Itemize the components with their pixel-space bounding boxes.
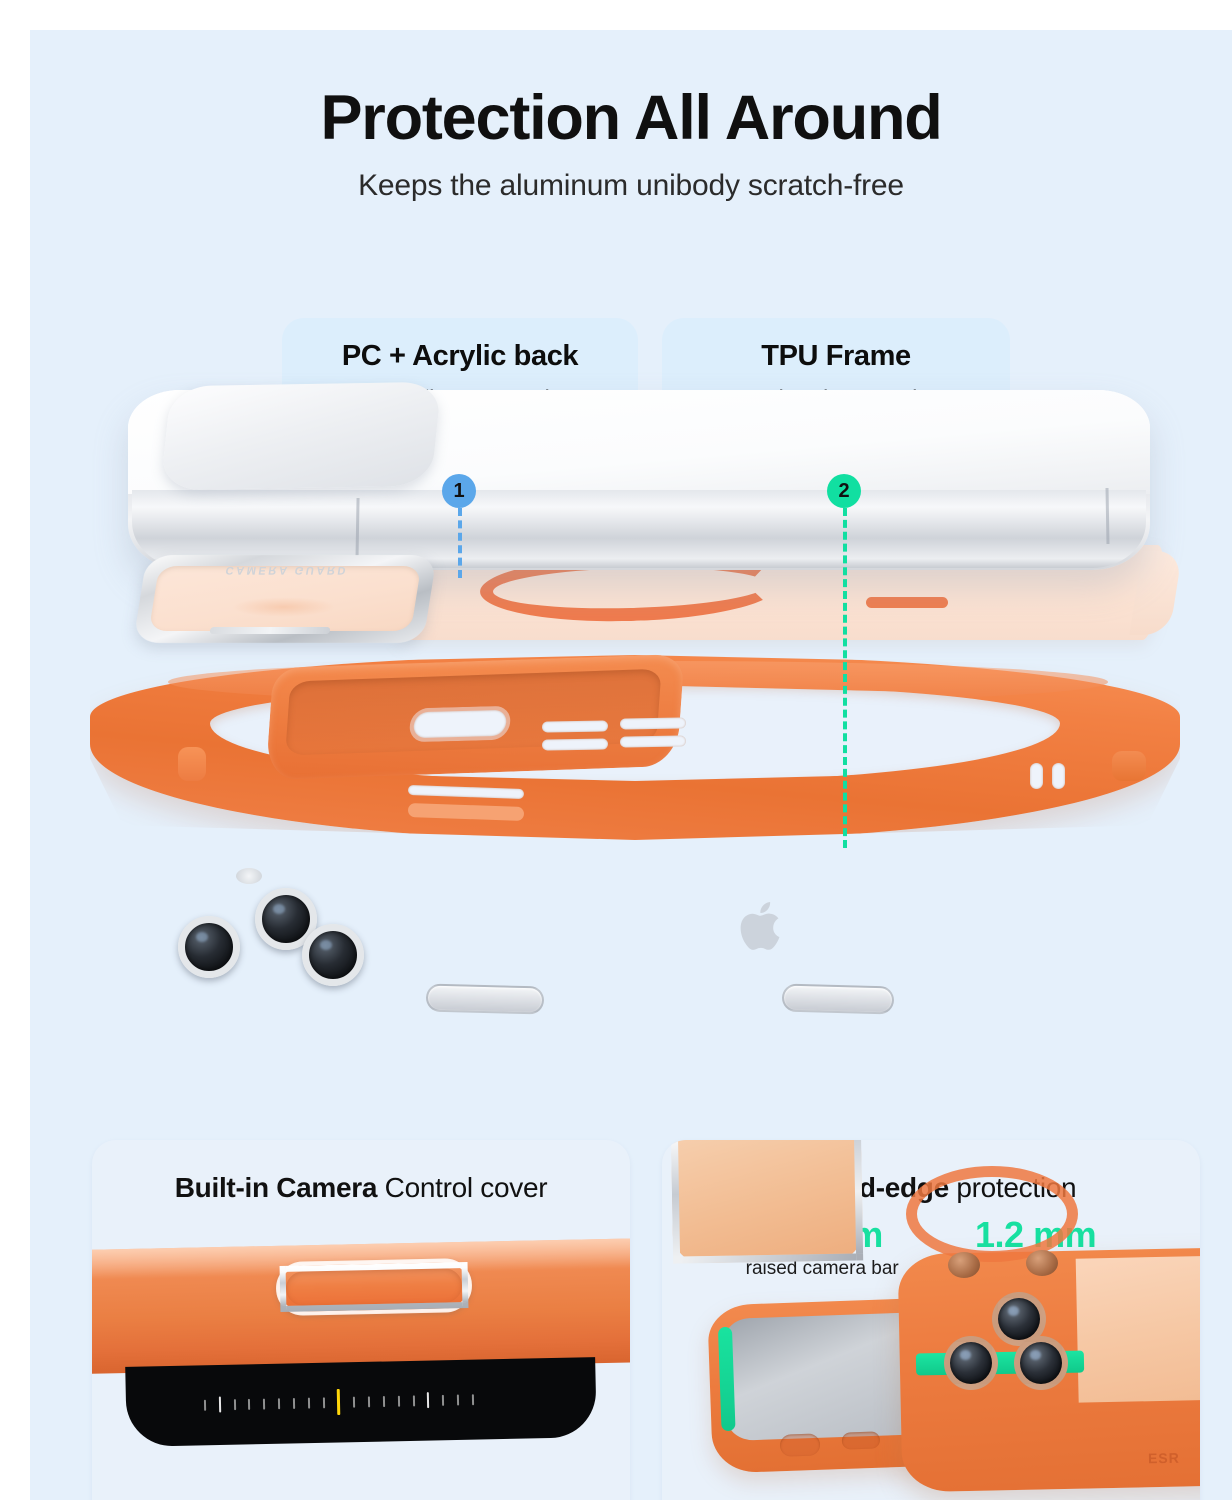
volume-down-cutout [542,738,608,750]
apple-logo-icon [733,898,787,954]
leader-line-2 [843,508,847,848]
scale-tick [278,1398,280,1409]
magsafe-ring-indicator [906,1166,1078,1262]
camera-control-button-cover [280,1262,469,1312]
page-title: Protection All Around [30,85,1232,151]
callout-badge-1: 1 [442,474,476,508]
callout-title: TPU Frame [680,340,992,373]
camera-lens-left [944,1336,998,1390]
iphone-side-button-b [782,984,895,1015]
panel-title-bold: Built-in Camera [175,1172,377,1203]
scale-tick [308,1397,310,1408]
camera-lens-right [1014,1336,1068,1390]
scale-tick [204,1399,206,1410]
tpu-frame [90,655,1180,840]
camera-guard-notch [209,627,330,634]
camera-control-cutout [408,706,512,743]
camera-aux-sensor-a [948,1252,980,1278]
camera-module-with-guard [671,1140,863,1264]
callout-title: PC + Acrylic back [300,340,620,373]
side-button-cutout [620,735,686,747]
scale-tick [323,1397,325,1408]
camera-aux-sensor-b [1026,1250,1058,1276]
header: Protection All Around Keeps the aluminum… [30,85,1232,203]
panel-camera-control-cover: Built-in Camera Control cover [92,1140,630,1500]
panel-title: Built-in Camera Control cover [92,1172,630,1204]
scale-tick [412,1395,414,1406]
scale-tick [442,1394,444,1405]
panel-title-light: Control cover [377,1172,547,1203]
camera-lens-telephoto [302,924,364,986]
speaker-port-cutout-b [1052,763,1065,789]
tpu-left-corner-nub [178,747,206,781]
infographic-canvas: Protection All Around Keeps the aluminum… [30,30,1232,1500]
case-button-cutout [780,1433,821,1456]
scale-tick [368,1396,370,1407]
leader-line-1 [458,508,462,578]
scale-tick [353,1396,355,1407]
magsafe-alignment-bar [866,597,948,608]
panel-raised-edge-protection: Raised-edge protection 2.4 mm raised cam… [662,1140,1200,1500]
scale-tick [219,1396,221,1412]
action-button-cutout [620,717,686,729]
exposure-cursor [337,1389,341,1415]
scale-tick [248,1398,250,1409]
case-button-cutout [842,1431,881,1449]
iphone-camera-bump [160,382,441,491]
camera-guard-ring: CAMERA GUARD [140,555,430,643]
scale-tick [427,1392,429,1408]
scale-tick [457,1394,459,1405]
speaker-port-cutout-a [1030,763,1043,789]
callout-badge-2: 2 [827,474,861,508]
camera-flash [236,868,262,884]
brand-logo-esr: ESR [1148,1450,1180,1467]
scale-tick [293,1397,295,1408]
tpu-right-corner-nub [1112,751,1146,781]
page-subtitle: Keeps the aluminum unibody scratch-free [30,169,1232,203]
product-infographic: Protection All Around Keeps the aluminum… [0,0,1232,1500]
scale-tick [398,1395,400,1406]
volume-up-cutout [542,720,608,732]
case-back-panel [1076,1254,1200,1403]
scale-tick [234,1399,236,1410]
scale-tick [263,1398,265,1409]
scale-tick [472,1394,474,1405]
iphone-device [128,390,1150,570]
iphone-side-button-a [426,983,545,1014]
camera-lens-ultrawide [178,916,240,978]
scale-tick [383,1396,385,1407]
camera-guard-label: CAMERA GUARD [191,564,383,576]
